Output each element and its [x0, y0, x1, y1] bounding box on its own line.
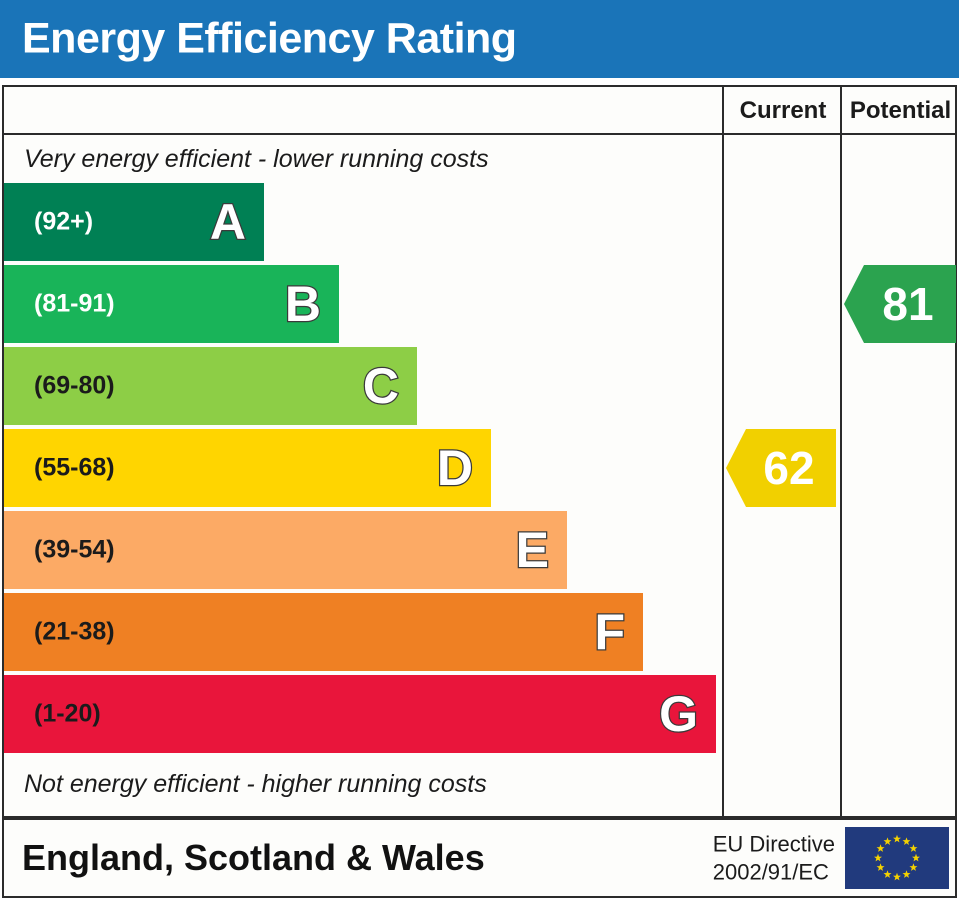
band-letter-c: C — [363, 361, 399, 411]
caption-bottom: Not energy efficient - higher running co… — [24, 770, 487, 799]
band-range-c: (69-80) — [34, 372, 115, 401]
band-letter-b: B — [285, 279, 321, 329]
band-range-b: (81-91) — [34, 290, 115, 319]
band-range-d: (55-68) — [34, 454, 115, 483]
column-header-potential: Potential — [842, 97, 959, 125]
band-letter-d: D — [437, 443, 473, 493]
band-range-e: (39-54) — [34, 536, 115, 565]
band-row-g: (1-20)G — [4, 675, 716, 753]
current-rating-value: 62 — [747, 445, 814, 491]
band-range-a: (92+) — [34, 208, 93, 237]
energy-efficiency-certificate: Energy Efficiency Rating Current Potenti… — [0, 0, 959, 900]
directive-line-1: EU Directive — [713, 832, 835, 857]
column-header-current: Current — [724, 97, 842, 125]
title-bar: Energy Efficiency Rating — [0, 0, 959, 78]
column-divider-potential — [840, 87, 842, 816]
rating-bands: (92+)A(81-91)B(69-80)C(55-68)D(39-54)E(2… — [4, 183, 722, 763]
band-row-f: (21-38)F — [4, 593, 643, 671]
directive-line-2: 2002/91/EC — [713, 859, 829, 884]
eu-flag-icon — [845, 827, 949, 889]
footer-directive-label: EU Directive2002/91/EC — [713, 831, 835, 886]
page-title: Energy Efficiency Rating — [22, 15, 517, 64]
band-row-e: (39-54)E — [4, 511, 567, 589]
band-range-f: (21-38) — [34, 618, 115, 647]
potential-rating-arrow: 81 — [844, 265, 956, 343]
band-row-b: (81-91)B — [4, 265, 339, 343]
potential-rating-value: 81 — [866, 281, 933, 327]
band-row-d: (55-68)D — [4, 429, 491, 507]
band-range-g: (1-20) — [34, 700, 101, 729]
caption-top: Very energy efficient - lower running co… — [24, 145, 489, 174]
band-row-c: (69-80)C — [4, 347, 417, 425]
footer-bar: England, Scotland & Wales EU Directive20… — [2, 818, 957, 898]
band-letter-a: A — [210, 197, 246, 247]
eu-flag-stars — [845, 827, 949, 889]
rating-table: Current Potential Very energy efficient … — [2, 85, 957, 818]
band-row-a: (92+)A — [4, 183, 264, 261]
footer-region-label: England, Scotland & Wales — [22, 837, 485, 879]
band-letter-f: F — [594, 607, 625, 657]
current-rating-arrow: 62 — [726, 429, 836, 507]
band-letter-e: E — [516, 525, 549, 575]
column-divider-current — [722, 87, 724, 816]
band-letter-g: G — [659, 689, 698, 739]
